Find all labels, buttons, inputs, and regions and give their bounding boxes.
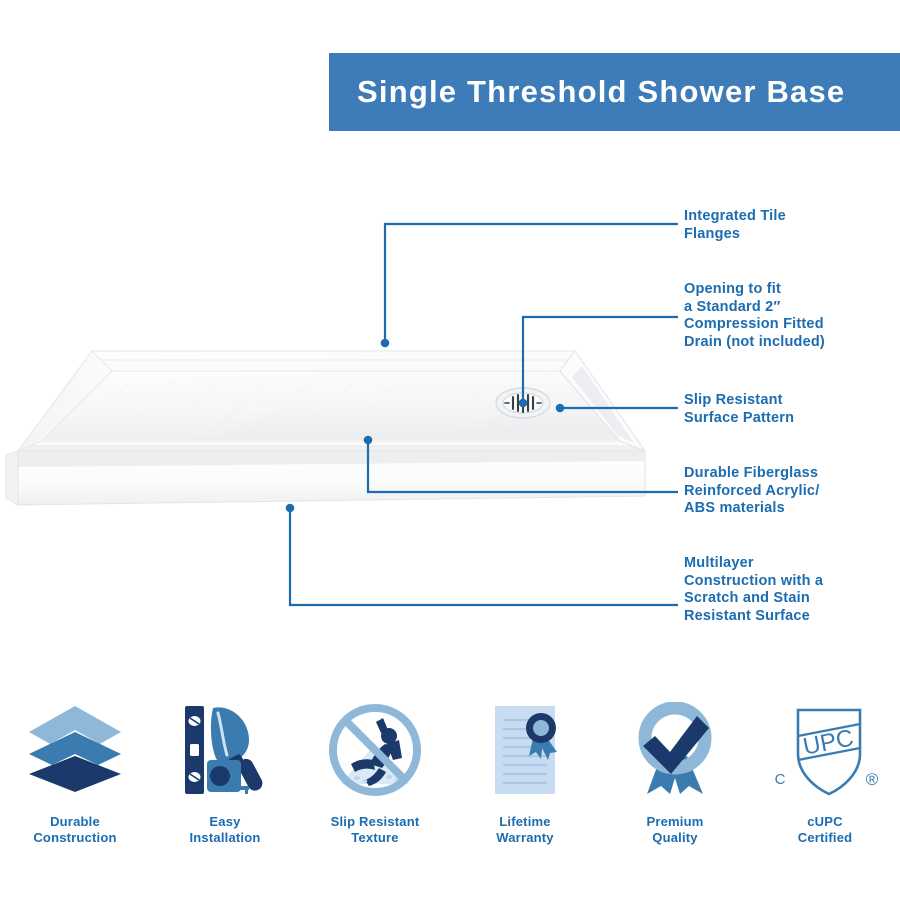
check-rosette-icon — [623, 700, 727, 800]
feature-label-easy-installation: Easy Installation — [189, 814, 260, 846]
layers-stack-icon — [23, 700, 127, 800]
shower-base-drawing — [0, 320, 670, 535]
callout-label-tile-flanges: Integrated Tile Flanges — [684, 208, 786, 243]
feature-label-slip-resistant: Slip Resistant Texture — [331, 814, 420, 846]
callout-label-drain-opening: Opening to fit a Standard 2″ Compression… — [684, 281, 825, 351]
feature-lifetime-warranty: Lifetime Warranty — [450, 700, 600, 846]
callout-label-multilayer: Multilayer Construction with a Scratch a… — [684, 555, 823, 625]
certificate-ribbon-icon — [473, 700, 577, 800]
upc-shield-right-mark: ® — [866, 770, 879, 789]
callout-label-slip-surface: Slip Resistant Surface Pattern — [684, 392, 794, 427]
feature-label-lifetime-warranty: Lifetime Warranty — [496, 814, 553, 846]
drain-grate-icon — [496, 388, 550, 418]
apron-left-cap — [6, 451, 18, 505]
feature-easy-installation: Easy Installation — [150, 700, 300, 846]
feature-durable-construction: Durable Construction — [0, 700, 150, 846]
feature-label-cupc-certified: cUPC Certified — [798, 814, 853, 846]
feature-cupc-certified: UPC C ® cUPC Certified — [750, 700, 900, 846]
upc-shield-left-mark: C — [775, 771, 786, 788]
upc-shield-icon: UPC C ® — [770, 700, 880, 800]
header-banner: Single Threshold Shower Base — [329, 53, 900, 131]
infographic-root: Single Threshold Shower Base — [0, 0, 900, 900]
feature-label-durable-construction: Durable Construction — [33, 814, 116, 846]
page-title: Single Threshold Shower Base — [357, 74, 845, 110]
upc-shield-text: UPC — [801, 724, 856, 760]
level-trowel-tape-icon — [173, 700, 277, 800]
feature-slip-resistant: Slip Resistant Texture — [300, 700, 450, 846]
feature-premium-quality: Premium Quality — [600, 700, 750, 846]
feature-strip: Durable Construction — [0, 700, 900, 875]
feature-label-premium-quality: Premium Quality — [646, 814, 703, 846]
no-slip-person-icon — [323, 700, 427, 800]
product-illustration — [0, 320, 670, 535]
callout-label-fiberglass: Durable Fiberglass Reinforced Acrylic/ A… — [684, 465, 819, 518]
